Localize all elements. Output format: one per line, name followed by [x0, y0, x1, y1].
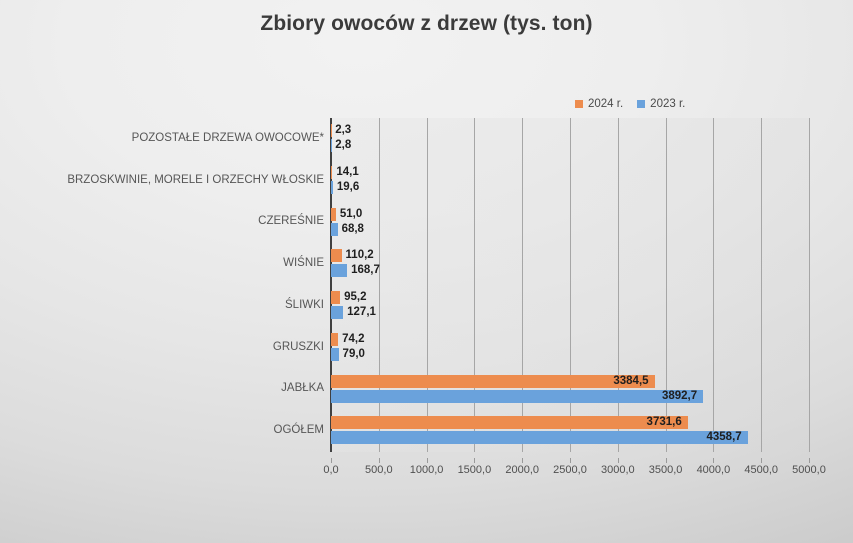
axis-tickmark: [713, 458, 714, 463]
plot-area: 2,32,814,119,651,068,8110,2168,795,2127,…: [331, 118, 809, 452]
bar-value-label: 51,0: [340, 208, 362, 221]
legend-item-2024[interactable]: 2024 r.: [575, 98, 623, 110]
category-label: BRZOSKWINIE, MORELE I ORZECHY WŁOSKIE: [0, 174, 324, 187]
axis-tickmark: [666, 458, 667, 463]
bar-2023[interactable]: [331, 264, 347, 277]
bar-value-label: 2,3: [335, 124, 351, 137]
value-axis-tick-labels: 0,0500,01000,01500,02000,02500,03000,035…: [331, 458, 809, 476]
category-label: ŚLIWKI: [0, 299, 324, 312]
bar-value-label: 3384,5: [613, 375, 648, 388]
bar-group: 74,279,0: [331, 327, 809, 369]
legend-swatch-icon-2023: [637, 100, 645, 108]
legend-label-2023: 2023 r.: [650, 98, 685, 110]
bar-2023[interactable]: [331, 223, 338, 236]
bar-2023[interactable]: [331, 348, 339, 361]
bar-value-label: 79,0: [343, 348, 365, 361]
bar-value-label: 95,2: [344, 291, 366, 304]
bar-value-label: 74,2: [342, 333, 364, 346]
axis-tick-label: 500,0: [365, 464, 393, 476]
legend-label-2024: 2024 r.: [588, 98, 623, 110]
bar-value-label: 3892,7: [662, 390, 697, 403]
axis-tick-label: 4000,0: [697, 464, 731, 476]
category-label: OGÓŁEM: [0, 424, 324, 437]
bar-value-label: 14,1: [336, 166, 358, 179]
bar-value-label: 2,8: [335, 139, 351, 152]
bar-group: 3731,64358,7: [331, 410, 809, 452]
bar-group: 14,119,6: [331, 160, 809, 202]
bar-2024[interactable]: [331, 249, 342, 262]
bar-2024[interactable]: [331, 208, 336, 221]
bar-value-label: 4358,7: [707, 431, 742, 444]
category-label: WIŚNIE: [0, 257, 324, 270]
axis-tickmark: [809, 458, 810, 463]
category-label: POZOSTAŁE DRZEWA OWOCOWE*: [0, 132, 324, 145]
bar-value-label: 68,8: [342, 223, 364, 236]
bar-2024[interactable]: [331, 375, 655, 388]
legend-swatch-icon-2024: [575, 100, 583, 108]
axis-tickmark: [379, 458, 380, 463]
axis-tick-label: 3000,0: [601, 464, 635, 476]
axis-tickmark: [522, 458, 523, 463]
axis-tick-label: 3500,0: [649, 464, 683, 476]
chart-legend: 2024 r. 2023 r.: [575, 98, 685, 110]
axis-tickmark: [761, 458, 762, 463]
category-label: JABŁKA: [0, 382, 324, 395]
axis-tickmark: [427, 458, 428, 463]
axis-tickmark: [618, 458, 619, 463]
axis-tick-label: 2000,0: [505, 464, 539, 476]
legend-item-2023[interactable]: 2023 r.: [637, 98, 685, 110]
bar-group: 2,32,8: [331, 118, 809, 160]
bar-2023[interactable]: [331, 139, 332, 152]
bar-value-label: 127,1: [347, 306, 376, 319]
axis-tickmark: [331, 458, 332, 463]
bar-value-label: 19,6: [337, 181, 359, 194]
bar-2023[interactable]: [331, 181, 333, 194]
chart-container: Zbiory owoców z drzew (tys. ton) 2024 r.…: [0, 0, 853, 543]
bar-2024[interactable]: [331, 291, 340, 304]
axis-tick-label: 1000,0: [410, 464, 444, 476]
bar-2024[interactable]: [331, 124, 332, 137]
bar-2023[interactable]: [331, 390, 703, 403]
bar-group: 3384,53892,7: [331, 369, 809, 411]
bar-group: 51,068,8: [331, 202, 809, 244]
axis-tick-label: 4500,0: [744, 464, 778, 476]
axis-tickmark: [570, 458, 571, 463]
axis-tick-label: 5000,0: [792, 464, 826, 476]
category-label: CZEREŚNIE: [0, 215, 324, 228]
axis-tickmark: [474, 458, 475, 463]
bar-value-label: 110,2: [346, 249, 374, 262]
bar-2024[interactable]: [331, 416, 688, 429]
bar-rows: 2,32,814,119,651,068,8110,2168,795,2127,…: [331, 118, 809, 452]
bar-value-label: 3731,6: [647, 416, 682, 429]
bar-2023[interactable]: [331, 431, 748, 444]
chart-title: Zbiory owoców z drzew (tys. ton): [0, 12, 853, 36]
bar-2024[interactable]: [331, 166, 332, 179]
bar-group: 95,2127,1: [331, 285, 809, 327]
bar-value-label: 168,7: [351, 264, 380, 277]
bar-2024[interactable]: [331, 333, 338, 346]
axis-tick-label: 1500,0: [458, 464, 492, 476]
bar-2023[interactable]: [331, 306, 343, 319]
gridline: [809, 118, 810, 452]
category-axis-labels: POZOSTAŁE DRZEWA OWOCOWE*BRZOSKWINIE, MO…: [0, 118, 324, 452]
bar-group: 110,2168,7: [331, 243, 809, 285]
axis-tick-label: 2500,0: [553, 464, 587, 476]
axis-tick-label: 0,0: [323, 464, 338, 476]
category-label: GRUSZKI: [0, 341, 324, 354]
